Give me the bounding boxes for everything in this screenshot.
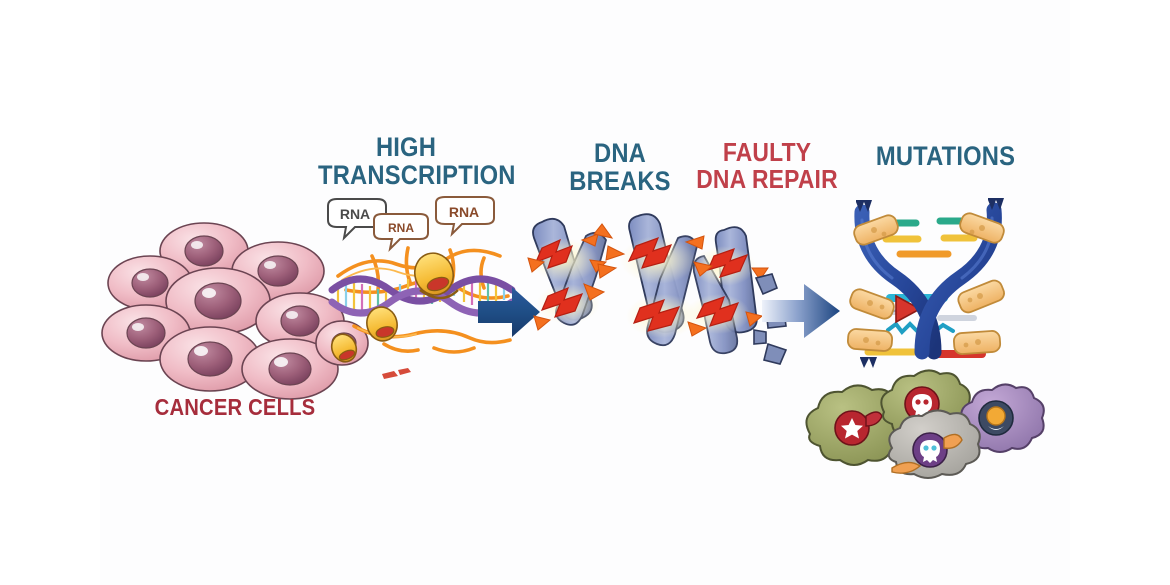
label-dna-breaks: DNA BREAKS [550, 140, 691, 195]
illustration-canvas: CANCER CELLS HIGH TRANSCRIPTION RNA RNA [0, 0, 1170, 585]
rna-bubble-3: RNA [436, 197, 494, 234]
arrow-icon [762, 284, 840, 338]
stage-mutated-dna [832, 190, 1027, 375]
stage-dna-breaks [528, 212, 778, 402]
label-mutations: MUTATIONS [851, 143, 1040, 171]
rna-polymerase [328, 331, 361, 366]
arrow-breaks-to-mutations [762, 282, 842, 340]
cancer-cell-cluster [118, 225, 358, 400]
rna-bubble-text: RNA [340, 206, 370, 222]
stage-mutant-cells [796, 372, 1036, 497]
gold-dot-icon [987, 407, 1005, 425]
rna-bubble-text: RNA [449, 204, 479, 220]
label-faulty-dna-repair: FAULTY DNA REPAIR [683, 139, 850, 192]
label-high-transcription: HIGH TRANSCRIPTION [318, 134, 494, 189]
rna-bubble-text: RNA [388, 221, 414, 235]
rna-fragment-marks [382, 368, 411, 379]
stage-cancer-cells [118, 225, 358, 400]
rna-bubble-2: RNA [374, 214, 428, 249]
label-cancer-cells: CANCER CELLS [143, 396, 328, 419]
